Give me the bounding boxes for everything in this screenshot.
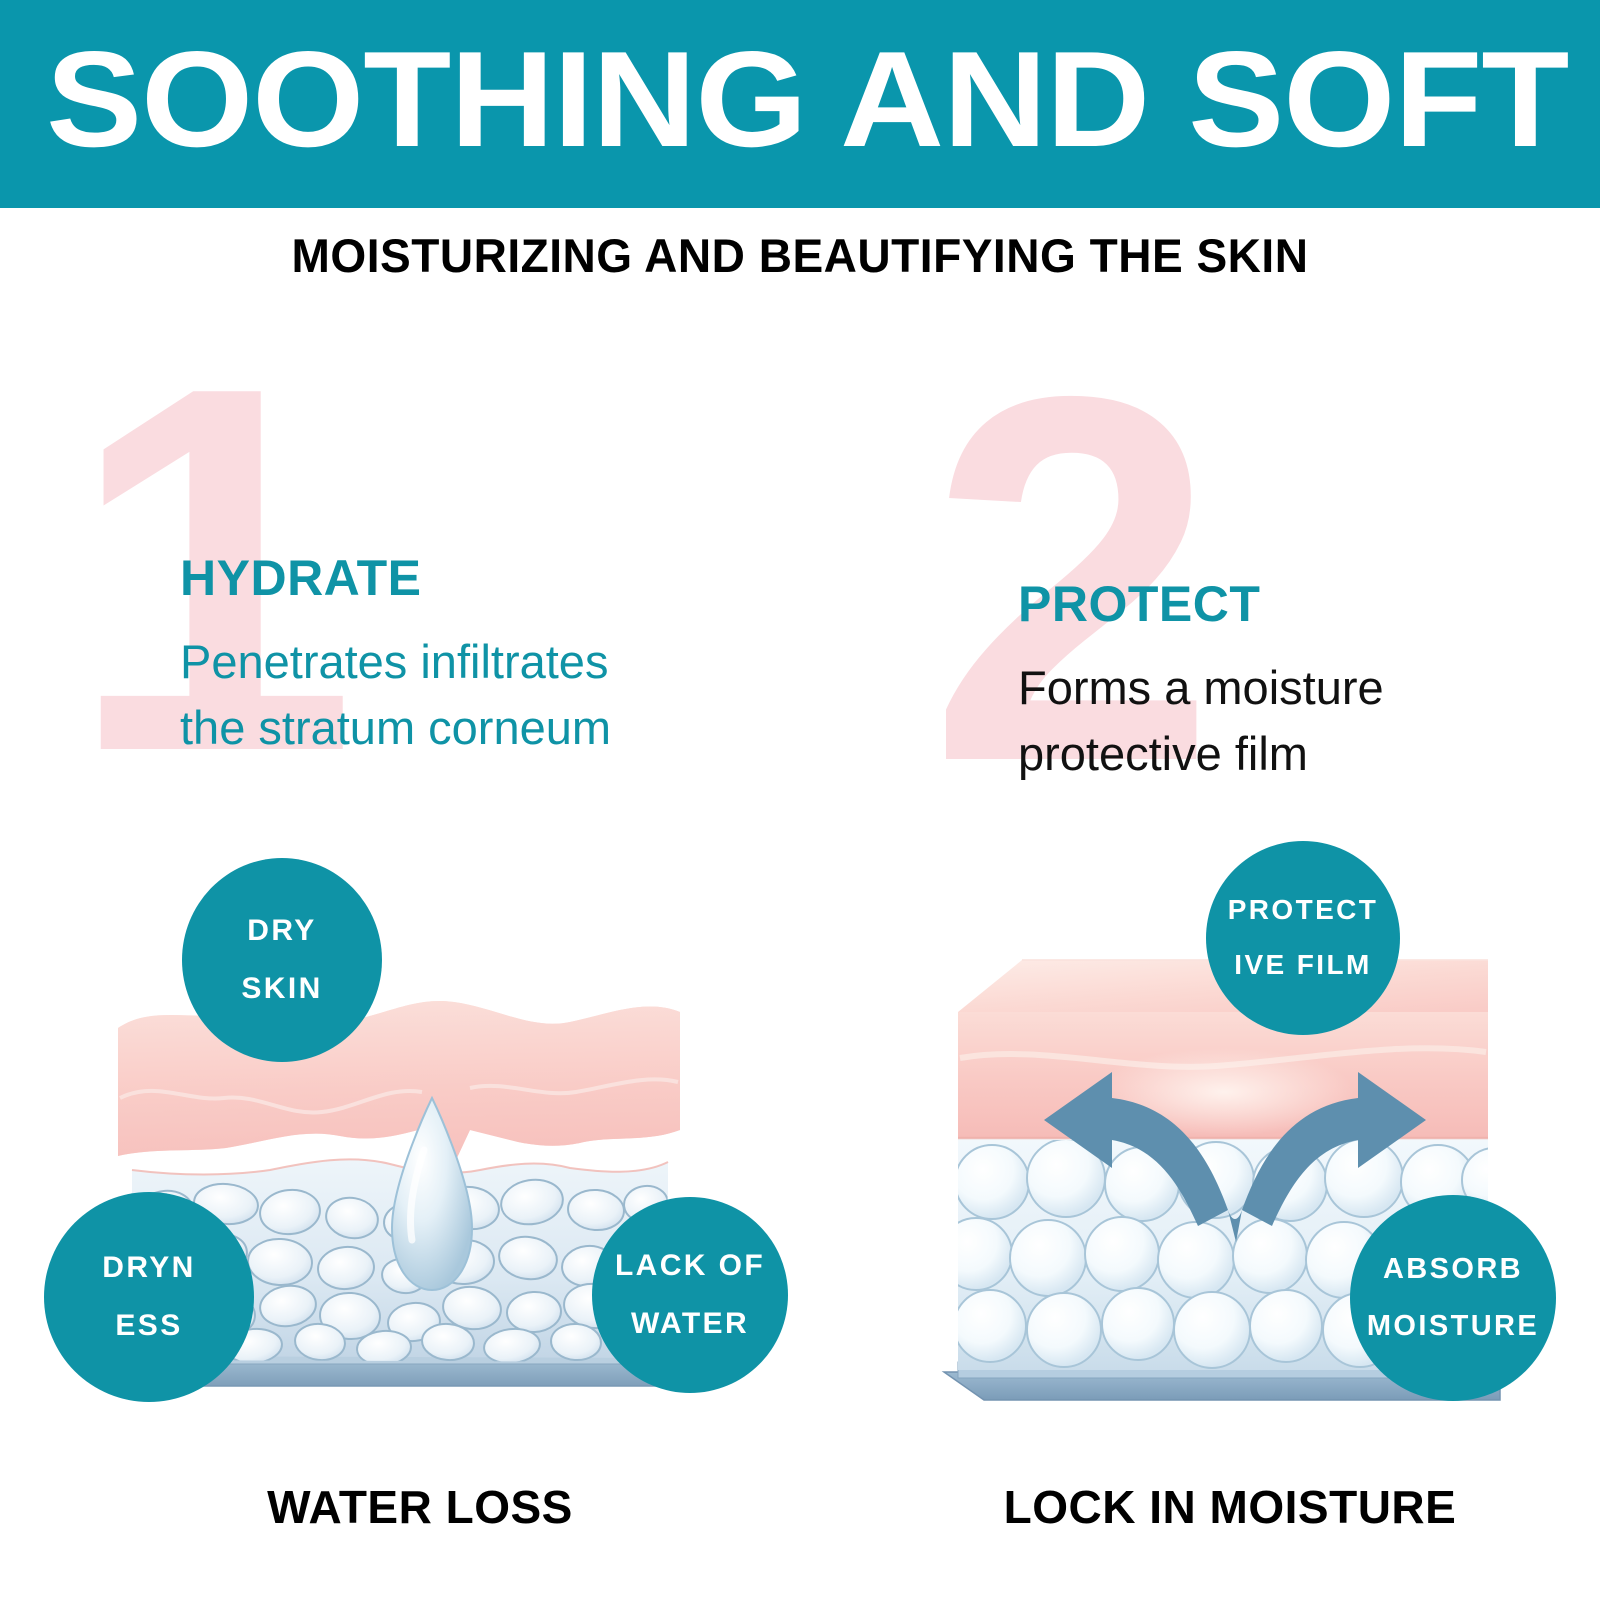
page-title: SOOTHING AND SOFT: [46, 24, 1600, 174]
dry-skin-cross-section-illustration: [40, 830, 800, 1530]
badge-protective-film[interactable]: PROTECT IVE FILM: [1206, 841, 1400, 1035]
step-block-hydrate: HYDRATE Penetrates infiltrates the strat…: [180, 552, 820, 762]
step-body-protect-line-2: protective film: [1018, 721, 1578, 788]
badge-lack-of-water[interactable]: LACK OF WATER: [592, 1197, 788, 1393]
badge-dryness-line-1: DRYN: [102, 1239, 196, 1298]
step-body-hydrate-line-1: Penetrates infiltrates: [180, 629, 820, 696]
page-subtitle: MOISTURIZING AND BEAUTIFYING THE SKIN: [16, 228, 1584, 283]
badge-protective-film-line-1: PROTECT: [1228, 883, 1379, 938]
step-heading-protect: PROTECT: [1018, 578, 1578, 631]
badge-dry-skin-line-1: DRY: [247, 902, 316, 961]
diagram-water-loss: [40, 830, 800, 1530]
caption-lock-in-moisture: LOCK IN MOISTURE: [880, 1480, 1580, 1534]
step-body-protect-line-1: Forms a moisture: [1018, 655, 1578, 722]
step-block-protect: PROTECT Forms a moisture protective film: [1018, 578, 1578, 788]
badge-dryness[interactable]: DRYN ESS: [44, 1192, 254, 1402]
badge-protective-film-line-2: IVE FILM: [1234, 938, 1371, 993]
header-banner: SOOTHING AND SOFT: [0, 0, 1600, 208]
badge-lack-of-water-line-1: LACK OF: [615, 1237, 765, 1296]
caption-water-loss: WATER LOSS: [40, 1480, 800, 1534]
badge-dry-skin-line-2: SKIN: [241, 960, 322, 1019]
badge-lack-of-water-line-2: WATER: [631, 1295, 749, 1354]
step-heading-hydrate: HYDRATE: [180, 552, 820, 605]
badge-absorb-moisture[interactable]: ABSORB MOISTURE: [1350, 1195, 1556, 1401]
badge-absorb-moisture-line-1: ABSORB: [1383, 1241, 1523, 1298]
badge-dryness-line-2: ESS: [115, 1297, 182, 1356]
step-body-hydrate-line-2: the stratum corneum: [180, 695, 820, 762]
badge-dry-skin[interactable]: DRY SKIN: [182, 858, 382, 1062]
badge-absorb-moisture-line-2: MOISTURE: [1367, 1298, 1539, 1355]
